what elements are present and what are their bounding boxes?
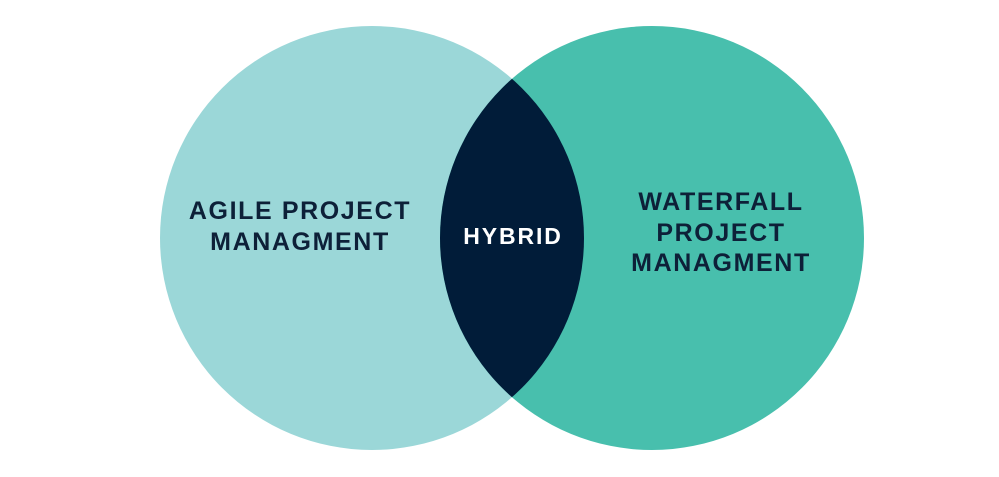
venn-diagram-graphic [0,0,999,477]
venn-diagram-canvas: AGILE PROJECT MANAGMENT HYBRID WATERFALL… [0,0,999,477]
